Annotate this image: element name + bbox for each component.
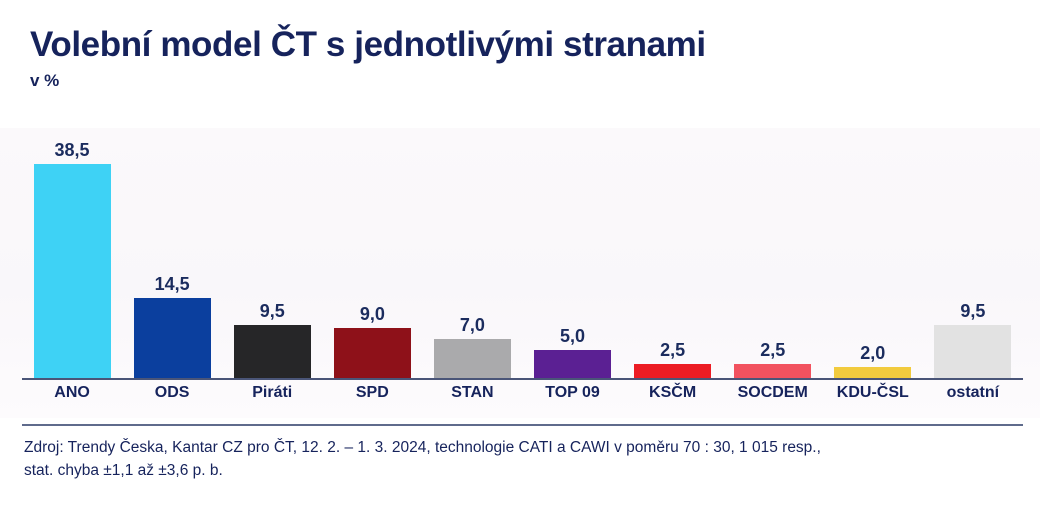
footer-divider — [22, 424, 1023, 426]
bar-rect[interactable] — [434, 339, 511, 378]
bar-rect[interactable] — [934, 325, 1011, 378]
x-axis-label: STAN — [422, 384, 522, 402]
bar-slot: 2,5 — [723, 128, 823, 378]
x-axis-line — [22, 378, 1023, 380]
bar-value-label: 14,5 — [155, 275, 190, 293]
bar-rect[interactable] — [734, 364, 811, 378]
bar-slot: 14,5 — [122, 128, 222, 378]
source-note: Zdroj: Trendy Česka, Kantar CZ pro ČT, 1… — [24, 436, 1024, 483]
x-axis-label: Piráti — [222, 384, 322, 402]
x-axis-label: KDU-ČSL — [823, 384, 923, 402]
bar-rect[interactable] — [134, 298, 211, 378]
bar-slot: 7,0 — [422, 128, 522, 378]
chart-subtitle: v % — [30, 71, 1020, 91]
page-title: Volební model ČT s jednotlivými stranami — [30, 26, 1020, 64]
x-axis-label: ANO — [22, 384, 122, 402]
bar-value-label: 38,5 — [55, 141, 90, 159]
bar-value-label: 9,5 — [960, 302, 985, 320]
bar-value-label: 2,5 — [760, 341, 785, 359]
bar-value-label: 7,0 — [460, 316, 485, 334]
chart-header: Volební model ČT s jednotlivými stranami… — [30, 26, 1020, 91]
x-axis-label: SPD — [322, 384, 422, 402]
bar-rect[interactable] — [834, 367, 911, 378]
x-axis-label: SOCDEM — [723, 384, 823, 402]
x-axis-label: ODS — [122, 384, 222, 402]
bar-rect[interactable] — [534, 350, 611, 378]
bar-slot: 2,0 — [823, 128, 923, 378]
bar-rect[interactable] — [334, 328, 411, 378]
x-axis-label: TOP 09 — [522, 384, 622, 402]
x-axis-label: KSČM — [623, 384, 723, 402]
bars-container: 38,514,59,59,07,05,02,52,52,09,5 — [22, 128, 1023, 378]
chart-infographic: Volební model ČT s jednotlivými stranami… — [0, 0, 1040, 517]
bar-value-label: 2,0 — [860, 344, 885, 362]
bar-slot: 9,5 — [222, 128, 322, 378]
x-axis-label: ostatní — [923, 384, 1023, 402]
bar-rect[interactable] — [234, 325, 311, 378]
bar-slot: 9,5 — [923, 128, 1023, 378]
bar-slot: 38,5 — [22, 128, 122, 378]
bar-rect[interactable] — [34, 164, 111, 378]
source-line-1: Zdroj: Trendy Česka, Kantar CZ pro ČT, 1… — [24, 436, 1024, 459]
bar-value-label: 9,0 — [360, 305, 385, 323]
bar-value-label: 9,5 — [260, 302, 285, 320]
bar-slot: 9,0 — [322, 128, 422, 378]
x-axis-labels: ANOODSPirátiSPDSTANTOP 09KSČMSOCDEMKDU-Č… — [22, 384, 1023, 402]
bar-value-label: 2,5 — [660, 341, 685, 359]
bar-rect[interactable] — [634, 364, 711, 378]
bar-slot: 5,0 — [522, 128, 622, 378]
bar-value-label: 5,0 — [560, 327, 585, 345]
source-line-2: stat. chyba ±1,1 až ±3,6 p. b. — [24, 459, 1024, 482]
bar-slot: 2,5 — [623, 128, 723, 378]
plot-area: 38,514,59,59,07,05,02,52,52,09,5 ANOODSP… — [0, 128, 1040, 418]
